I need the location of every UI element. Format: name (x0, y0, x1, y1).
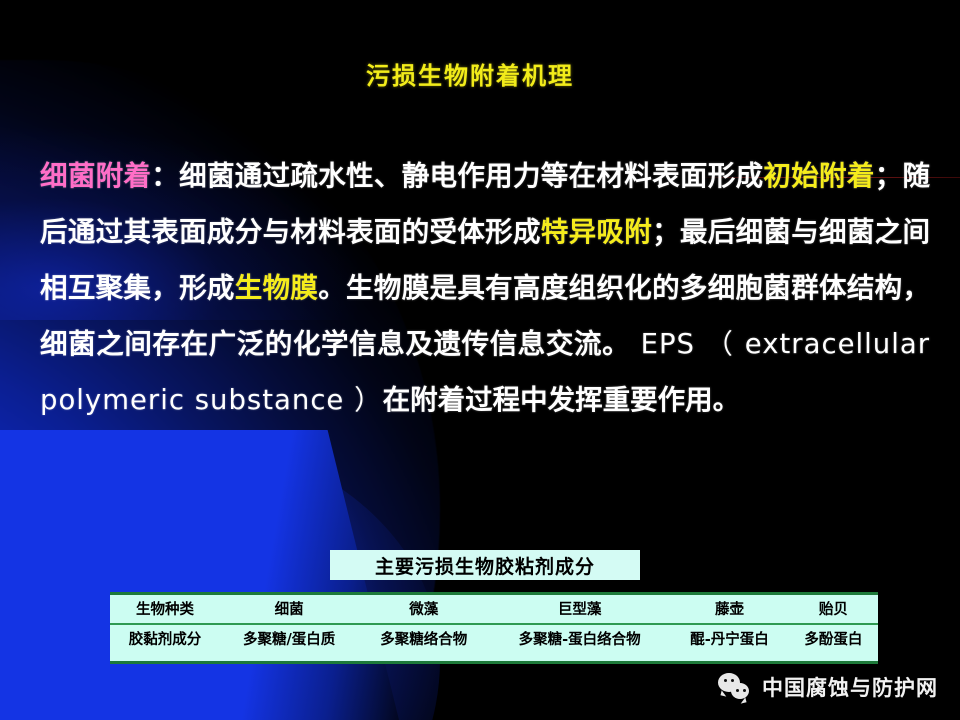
body-segment-biofilm: 生物膜 (235, 272, 318, 304)
table-header-cell-4: 藤壶 (670, 595, 789, 624)
table-cell-0: 胶黏剂成分 (110, 624, 220, 653)
table-header-row: 生物种类 细菌 微藻 巨型藻 藤壶 贻贝 (110, 595, 878, 624)
body-segment-specific-adsorption: 特异吸附 (541, 216, 652, 248)
adhesive-composition-table: 生物种类 细菌 微藻 巨型藻 藤壶 贻贝 胶黏剂成分 多聚糖/蛋白质 多聚糖络合… (110, 592, 878, 664)
table-cell-1: 多聚糖/蛋白质 (220, 624, 358, 653)
body-paragraph: 细菌附着：细菌通过疏水性、静电作用力等在材料表面形成初始附着；随后通过其表面成分… (40, 148, 930, 428)
table-header-cell-3: 巨型藻 (489, 595, 670, 624)
wechat-icon (718, 672, 752, 702)
body-segment-initial-adhesion: 初始附着 (763, 160, 874, 192)
table-cell-3: 多聚糖-蛋白络合物 (489, 624, 670, 653)
page-title: 污损生物附着机理 (0, 56, 940, 91)
table-caption: 主要污损生物胶粘剂成分 (330, 550, 640, 580)
table-header-cell-2: 微藻 (358, 595, 489, 624)
slide-canvas: 污损生物附着机理 细菌附着：细菌通过疏水性、静电作用力等在材料表面形成初始附着；… (0, 0, 960, 720)
body-segment-9: 在附着过程中发挥重要作用。 (383, 384, 741, 416)
table-cell-4: 醌-丹宁蛋白 (670, 624, 789, 653)
body-segment-1: ：细菌通过疏水性、静电作用力等在材料表面形成 (151, 160, 763, 192)
table-header-cell-1: 细菌 (220, 595, 358, 624)
table-row: 胶黏剂成分 多聚糖/蛋白质 多聚糖络合物 多聚糖-蛋白络合物 醌-丹宁蛋白 多酚… (110, 624, 878, 653)
body-segment-bacterial-adhesion: 细菌附着 (40, 160, 151, 192)
table-header-cell-5: 贻贝 (789, 595, 878, 624)
table-header-cell-0: 生物种类 (110, 595, 220, 624)
table-cell-5: 多酚蛋白 (789, 624, 878, 653)
table-cell-2: 多聚糖络合物 (358, 624, 489, 653)
footer-watermark: 中国腐蚀与防护网 (718, 672, 938, 702)
footer-label: 中国腐蚀与防护网 (762, 672, 938, 702)
